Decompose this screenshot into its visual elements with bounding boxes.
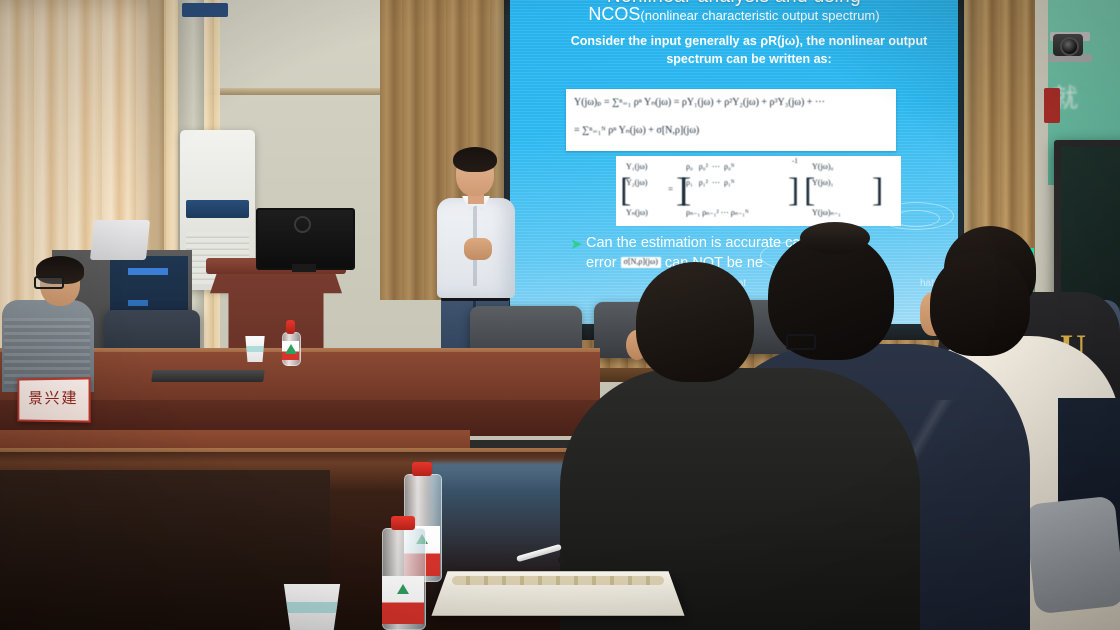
matrix-bracket-right-open: [	[804, 160, 815, 222]
laptop-screen	[90, 220, 150, 260]
bottle-cap	[412, 462, 432, 476]
slide-acronym-expansion: (nonlinear characteristic output spectru…	[640, 8, 879, 23]
cup-band	[246, 346, 265, 352]
slide-title-line2: NCOS(nonlinear characteristic output spe…	[510, 4, 958, 25]
attendee-1-head	[636, 262, 754, 382]
seated-attendee-glasses	[34, 276, 64, 289]
matrix-equation-container: Y₁(jω) Y₂(jω) Yₙ(jω) = ρ₀ ρ₀² ⋯ ρ₀ᴺ ρ₁ ρ…	[616, 156, 901, 226]
matrix-bracket-right-close: ]	[872, 160, 883, 222]
monitor-stand	[292, 264, 316, 272]
laptop-keyboard-base	[151, 370, 265, 382]
rack-indicator-strip	[128, 268, 168, 275]
water-bottle-front	[382, 516, 424, 630]
bullet-line-2-pre: error	[586, 255, 617, 271]
matrix-bracket-left: [	[620, 160, 631, 222]
matrix-equals-sign: =	[668, 184, 673, 194]
bottle-cap	[286, 320, 296, 334]
slide-paragraph: Consider the input generally as ρR(jω), …	[556, 32, 942, 68]
bottle-cap	[391, 516, 415, 530]
presenter-hands	[464, 238, 492, 260]
water-bottle-back	[282, 320, 299, 366]
bullet-arrow-icon: ➤	[570, 235, 583, 255]
dell-circle-logo-icon	[294, 216, 311, 233]
wall-sign-plate	[182, 3, 228, 17]
wall-mounted-display	[1054, 140, 1120, 314]
matrix-cell-r1: ρ₀ ρ₀² ⋯ ρ₀ᴺ	[686, 162, 734, 171]
banner-text: 就	[1052, 78, 1116, 115]
pen-tip	[558, 556, 566, 564]
matrix-bracket-center-close: ]	[788, 160, 799, 222]
matrix-right-row-3: Y(jω)ₙ₋₁	[812, 208, 841, 217]
paper-cup-back	[244, 336, 266, 362]
formula-line-2: = ∑ⁿ₌₁ᴺ ρⁿ Yₙ(jω) + σ[N,ρ](jω)	[574, 125, 699, 136]
bottle-label	[282, 341, 299, 360]
formula-line-1: Y(jω)ₚ = ∑ⁿ₌₁ ρⁿ Yₙ(jω) = ρY₁(jω) + ρ²Y₂…	[574, 97, 825, 108]
paper-cup-front	[280, 584, 344, 630]
lecture-room-photo: 就 Nonlinear analysis and using NCOS(nonl…	[0, 0, 1120, 630]
matrix-cell-r2: ρ₁ ρ₁² ⋯ ρ₁ᴺ	[686, 178, 734, 187]
matrix-cell-r3: ρₙ₋₁ ρₙ₋₁² ⋯ ρₙ₋₁ᴺ	[686, 208, 749, 217]
desk-name-card: 景兴建	[17, 377, 90, 422]
name-card-text: 景兴建	[19, 379, 88, 416]
bullet-line-1: Can the estimation is accurate cation	[586, 234, 936, 254]
bottle-label	[382, 576, 424, 624]
bottle-leaf-logo-icon	[285, 344, 297, 354]
presenter-hair	[453, 147, 497, 172]
air-conditioner-panel	[186, 200, 249, 218]
camera-lens-icon	[1060, 37, 1079, 56]
attendee-2-glasses	[786, 334, 816, 350]
attendee-2-hair-tuft	[800, 222, 870, 254]
bottle-leaf-logo-icon	[397, 584, 409, 594]
folded-jacket-on-chair	[1024, 496, 1120, 615]
foreground-table-left-dark	[0, 470, 330, 630]
lectern	[210, 262, 342, 354]
notebook-spiral-binding	[452, 576, 664, 585]
slide-acronym: NCOS	[588, 4, 640, 24]
attendee-3-head	[930, 252, 1030, 356]
rack-indicator-strip-2	[128, 300, 148, 306]
red-wall-object	[1044, 88, 1060, 123]
display-screen	[1061, 147, 1120, 307]
matrix-bracket-center-open: [	[680, 160, 691, 222]
formula-container: Y(jω)ₚ = ∑ⁿ₌₁ ρⁿ Yₙ(jω) = ρY₁(jω) + ρ²Y₂…	[566, 89, 896, 151]
bullet-sigma-term: σ[N,ρ](jω)	[621, 257, 661, 268]
cup-band	[285, 602, 339, 612]
